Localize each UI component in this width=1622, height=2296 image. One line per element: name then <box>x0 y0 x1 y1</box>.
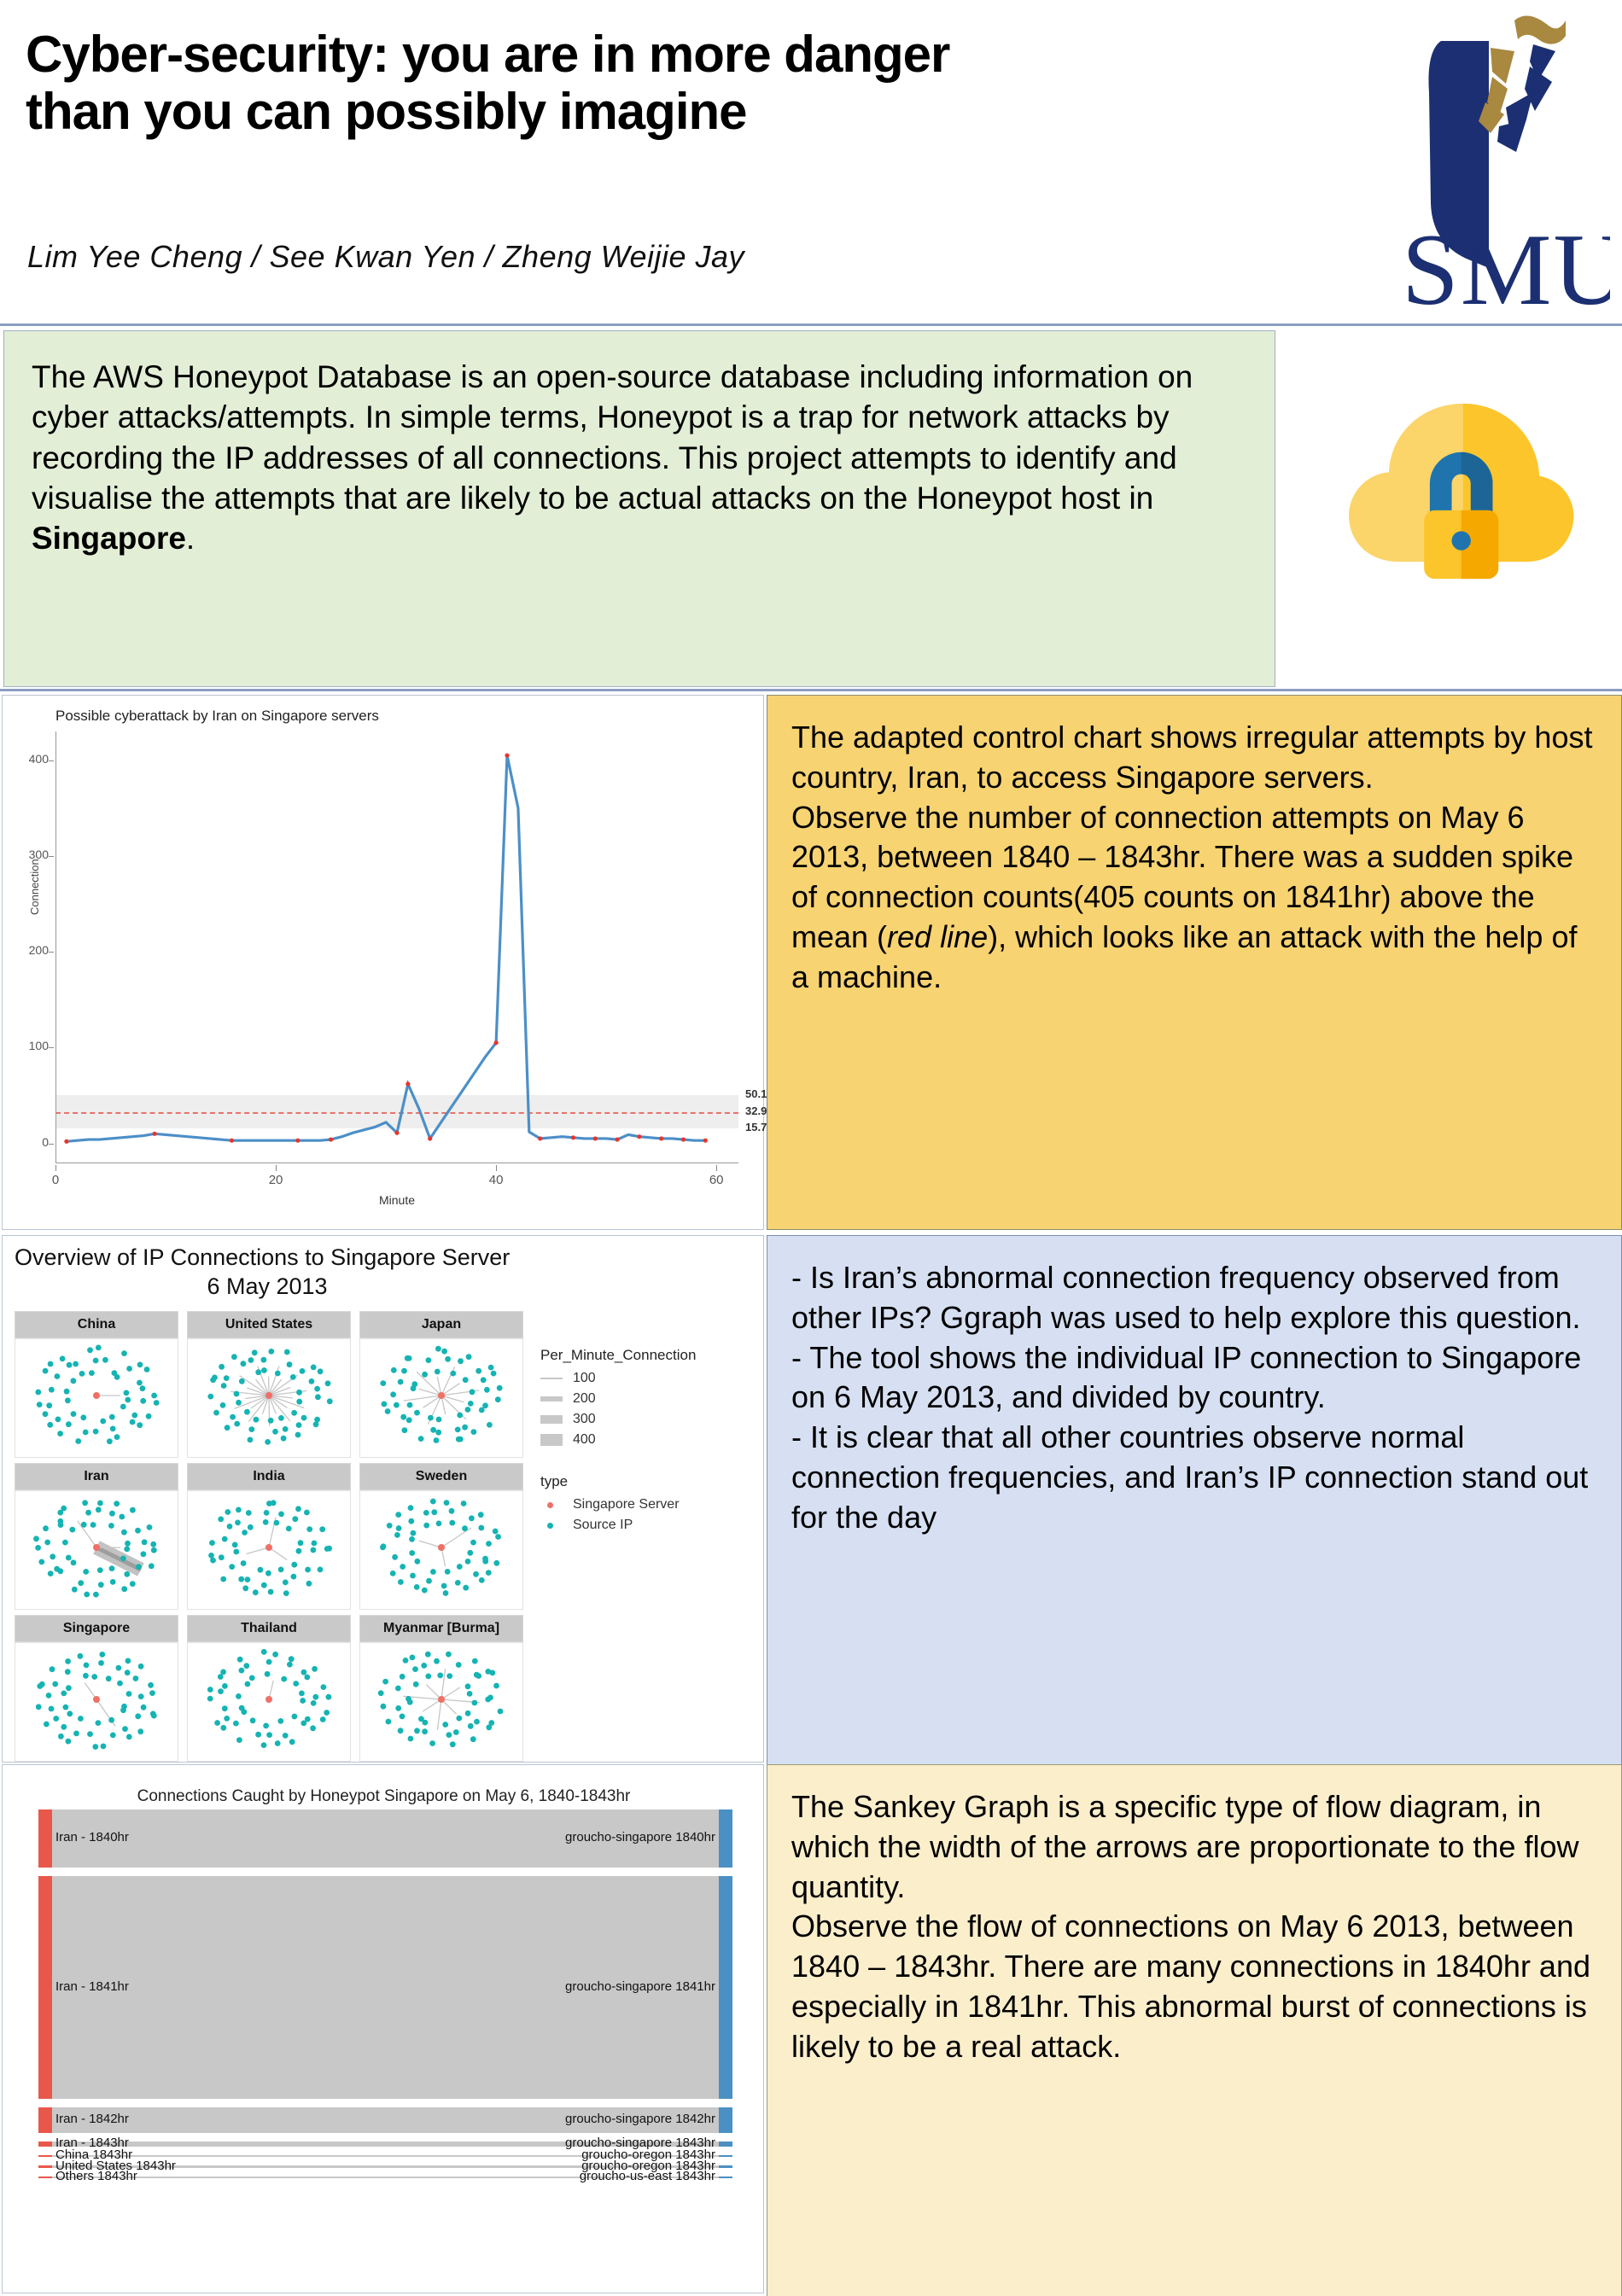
source-ip-node <box>305 1567 311 1573</box>
source-ip-node <box>422 1588 428 1594</box>
source-ip-node <box>414 1728 420 1734</box>
source-ip-node <box>110 1426 116 1432</box>
source-ip-node <box>208 1553 214 1559</box>
source-ip-node <box>117 1681 123 1687</box>
source-ip-node <box>275 1740 281 1746</box>
source-ip-node <box>219 1364 225 1370</box>
source-ip-node <box>47 1422 53 1428</box>
source-ip-node <box>238 1576 244 1582</box>
source-ip-node <box>151 1393 157 1399</box>
intro-text-part1: The AWS Honeypot Database is an open-sou… <box>32 359 1193 516</box>
source-ip-node <box>213 1410 219 1416</box>
source-ip-node <box>49 1706 55 1712</box>
sankey-panel: Connections Caught by Honeypot Singapore… <box>2 1764 764 2293</box>
chart-data-point <box>659 1136 663 1140</box>
poster-header: Cyber-security: you are in more danger t… <box>0 0 1622 326</box>
source-ip-node <box>258 1567 264 1573</box>
chart-data-point <box>637 1134 641 1139</box>
source-ip-node <box>222 1683 228 1689</box>
source-ip-node <box>431 1509 437 1515</box>
source-ip-node <box>43 1411 49 1417</box>
source-ip-node <box>93 1429 99 1435</box>
source-ip-node <box>446 1652 452 1658</box>
source-ip-node <box>265 1671 271 1677</box>
source-ip-node <box>387 1523 393 1529</box>
sankey-target-node[interactable] <box>719 2177 732 2179</box>
chart-x-tick: 20 <box>269 1173 283 1187</box>
source-ip-node <box>435 1430 441 1436</box>
source-ip-node <box>122 1726 128 1732</box>
source-ip-node <box>249 1675 255 1681</box>
source-ip-node <box>488 1365 494 1371</box>
source-ip-node <box>130 1507 136 1513</box>
title-line-1: Cyber-security: you are in more danger <box>26 26 1374 83</box>
source-ip-node <box>491 1371 497 1377</box>
chart-y-tick: 0 <box>42 1135 49 1149</box>
source-ip-node <box>239 1378 245 1384</box>
source-ip-node <box>324 1710 330 1716</box>
source-ip-node <box>434 1658 440 1664</box>
ggraph-facet-iran: Iran <box>15 1463 178 1610</box>
source-ip-node <box>149 1690 155 1696</box>
source-ip-node <box>278 1512 284 1518</box>
legend-size-entries: 100200300400 <box>540 1371 754 1448</box>
source-ip-node <box>428 1415 434 1421</box>
source-ip-node <box>301 1415 307 1421</box>
chart-line <box>67 755 705 1141</box>
ggraph-section: Overview of IP Connections to Singapore … <box>0 1235 1622 1764</box>
source-ip-node <box>486 1541 492 1547</box>
source-ip-node <box>456 1662 462 1668</box>
chart-y-tickmark <box>49 760 54 761</box>
poster-root: Cyber-security: you are in more danger t… <box>0 0 1622 2296</box>
source-ip-node <box>268 1418 274 1424</box>
ggraph-commentary-box: - Is Iran’s abnormal connection frequenc… <box>767 1235 1622 1770</box>
source-ip-node <box>421 1663 427 1669</box>
source-ip-node <box>402 1427 408 1433</box>
legend-size-label: 100 <box>573 1371 596 1386</box>
control-chart-commentary-box: The adapted control chart shows irregula… <box>767 695 1622 1230</box>
source-ip-node <box>300 1368 306 1374</box>
source-ip-node <box>93 1358 99 1364</box>
control-limit-label-upper: 50.1 <box>745 1087 767 1100</box>
facet-network-plot <box>187 1338 351 1458</box>
source-ip-node <box>414 1410 420 1416</box>
source-ip-node <box>296 1399 302 1405</box>
source-ip-node <box>108 1717 114 1723</box>
source-ip-node <box>461 1501 467 1506</box>
source-ip-node <box>72 1587 78 1593</box>
source-ip-node <box>467 1691 473 1697</box>
chart-y-tick: 300 <box>29 848 49 861</box>
source-ip-node <box>98 1660 104 1666</box>
source-ip-node <box>116 1665 122 1671</box>
source-ip-node <box>311 1365 317 1371</box>
source-ip-node <box>79 1371 85 1377</box>
source-ip-node <box>406 1417 412 1423</box>
source-ip-node <box>52 1681 58 1687</box>
sankey-target-node[interactable] <box>719 2142 732 2147</box>
source-ip-node <box>413 1681 419 1687</box>
sankey-commentary: The Sankey Graph is a specific type of f… <box>791 1787 1599 2067</box>
ggraph-legend: Per_Minute_Connection 100200300400 type … <box>540 1347 754 1538</box>
facet-label: Sweden <box>359 1463 523 1490</box>
chart-data-point <box>593 1136 598 1140</box>
source-ip-node <box>35 1545 41 1551</box>
control-limit-label-lower: 15.7 <box>745 1121 767 1133</box>
source-ip-node <box>409 1550 415 1556</box>
source-ip-node <box>261 1742 267 1748</box>
source-ip-node <box>445 1356 451 1362</box>
source-ip-node <box>465 1710 471 1716</box>
chart-data-point <box>394 1131 399 1135</box>
source-ip-node <box>71 1378 77 1384</box>
source-ip-node <box>138 1693 144 1699</box>
source-ip-node <box>271 1500 277 1506</box>
intro-paragraph: The AWS Honeypot Database is an open-sou… <box>32 357 1246 559</box>
source-ip-node <box>71 1559 77 1565</box>
singapore-server-node <box>438 1544 445 1551</box>
source-ip-node <box>398 1379 404 1385</box>
ggraph-title: Overview of IP Connections to Singapore … <box>15 1244 510 1271</box>
source-ip-node <box>463 1585 469 1591</box>
source-ip-node <box>137 1422 143 1428</box>
sankey-source-node[interactable] <box>38 1809 52 1868</box>
chart-series <box>55 731 738 1163</box>
source-ip-node <box>255 1369 261 1375</box>
source-ip-node <box>97 1501 103 1506</box>
source-ip-node <box>82 1500 88 1506</box>
source-ip-node <box>43 1368 49 1374</box>
legend-size-swatch <box>540 1378 563 1379</box>
source-ip-node <box>58 1734 64 1739</box>
ggraph-panel: Overview of IP Connections to Singapore … <box>2 1235 764 1763</box>
source-ip-node <box>498 1709 504 1715</box>
source-ip-node <box>263 1723 269 1729</box>
source-ip-node <box>140 1385 146 1391</box>
source-ip-node <box>325 1380 331 1386</box>
source-ip-node <box>264 1510 270 1516</box>
source-ip-node <box>214 1720 220 1726</box>
source-ip-node <box>430 1499 436 1505</box>
source-ip-node <box>65 1658 71 1664</box>
source-ip-node <box>321 1684 327 1690</box>
sankey-target-node[interactable] <box>719 2165 732 2168</box>
source-ip-node <box>274 1520 280 1526</box>
source-ip-node <box>450 1741 456 1747</box>
source-ip-node <box>239 1705 245 1711</box>
source-ip-node <box>296 1548 302 1554</box>
source-ip-node <box>73 1731 79 1737</box>
source-ip-node <box>268 1589 274 1595</box>
source-ip-node <box>227 1524 233 1530</box>
source-ip-node <box>495 1396 501 1402</box>
source-ip-node <box>296 1422 302 1428</box>
chart-y-tickmark <box>49 856 54 857</box>
source-ip-node <box>315 1394 321 1400</box>
source-ip-node <box>312 1694 318 1700</box>
chart-data-point <box>153 1132 157 1136</box>
source-ip-node <box>318 1567 324 1573</box>
source-ip-node <box>457 1413 463 1419</box>
source-ip-node <box>137 1380 143 1386</box>
source-ip-node <box>493 1529 499 1535</box>
source-ip-node <box>441 1349 447 1355</box>
source-ip-node <box>33 1536 39 1541</box>
sankey-source-node[interactable] <box>38 2177 52 2179</box>
facet-label: Thailand <box>187 1615 351 1642</box>
source-ip-node <box>385 1408 391 1414</box>
sankey-target-node[interactable] <box>719 2107 732 2133</box>
source-ip-node <box>48 1361 54 1367</box>
source-ip-node <box>414 1584 420 1590</box>
facet-network-plot <box>187 1642 351 1762</box>
source-ip-node <box>136 1564 142 1570</box>
source-ip-node <box>295 1432 301 1438</box>
source-ip-node <box>61 1691 67 1697</box>
source-ip-node <box>401 1368 407 1374</box>
ggraph-facet-india: India <box>187 1463 351 1610</box>
source-ip-node <box>35 1390 41 1396</box>
source-ip-node <box>493 1560 499 1566</box>
source-ip-node <box>301 1670 307 1675</box>
facet-label: United States <box>187 1311 351 1338</box>
source-ip-node <box>291 1574 297 1580</box>
sankey-target-node[interactable] <box>719 1809 732 1868</box>
source-ip-node <box>277 1718 283 1724</box>
ggraph-facet-japan: Japan <box>359 1311 523 1458</box>
source-ip-node <box>465 1683 471 1689</box>
source-ip-node <box>109 1414 115 1420</box>
facet-network-plot <box>359 1490 523 1610</box>
sankey-source-node[interactable] <box>38 2165 52 2168</box>
source-ip-node <box>466 1354 472 1360</box>
source-ip-node <box>124 1571 130 1577</box>
source-ip-node <box>97 1567 103 1573</box>
sankey-source-node[interactable] <box>38 2142 52 2147</box>
chart-x-tickmark <box>276 1165 277 1171</box>
source-ip-node <box>304 1510 310 1516</box>
source-ip-node <box>229 1564 235 1570</box>
source-ip-node <box>268 1349 274 1355</box>
cloud-lock-icon <box>1332 371 1579 619</box>
source-ip-node <box>250 1717 256 1723</box>
sankey-source-node[interactable] <box>38 2155 52 2158</box>
source-ip-node <box>300 1698 306 1704</box>
sankey-source-node[interactable] <box>38 1876 52 2100</box>
source-ip-node <box>381 1543 387 1549</box>
legend-type-label: Singapore Server <box>573 1497 680 1512</box>
source-ip-node <box>44 1722 50 1728</box>
source-ip-node <box>212 1375 218 1381</box>
source-ip-node <box>493 1683 499 1689</box>
source-ip-node <box>220 1725 226 1731</box>
source-ip-node <box>381 1704 387 1710</box>
source-ip-node <box>78 1580 84 1586</box>
facet-edge <box>441 1528 471 1547</box>
source-ip-node <box>235 1520 241 1526</box>
chart-x-tickmark <box>55 1165 56 1171</box>
source-ip-node <box>309 1378 315 1384</box>
source-ip-node <box>456 1716 462 1722</box>
chart-data-point <box>329 1137 333 1141</box>
source-ip-node <box>435 1346 441 1352</box>
source-ip-node <box>293 1681 299 1687</box>
source-ip-node <box>80 1414 86 1420</box>
source-ip-node <box>81 1522 87 1528</box>
ggraph-subtitle: 6 May 2013 <box>3 1273 532 1300</box>
chart-data-point <box>615 1137 619 1141</box>
source-ip-node <box>394 1532 400 1538</box>
source-ip-node <box>437 1673 443 1679</box>
sankey-source-label: Others 1843hr <box>55 2169 137 2183</box>
chart-y-tickmark <box>49 1047 54 1048</box>
source-ip-node <box>121 1350 127 1356</box>
source-ip-node <box>222 1705 228 1711</box>
source-ip-node <box>398 1728 404 1734</box>
source-ip-node <box>107 1438 113 1444</box>
source-ip-node <box>449 1508 455 1514</box>
source-ip-node <box>64 1389 70 1395</box>
source-ip-node <box>392 1554 398 1560</box>
source-ip-node <box>220 1576 226 1582</box>
source-ip-node <box>142 1539 148 1545</box>
source-ip-node <box>486 1724 492 1730</box>
source-ip-node <box>292 1516 298 1522</box>
intro-box: The AWS Honeypot Database is an open-sou… <box>3 330 1275 687</box>
facet-network-plot <box>15 1642 178 1762</box>
control-chart-section: Possible cyberattack by Iran on Singapor… <box>0 693 1622 1235</box>
source-ip-node <box>233 1721 239 1727</box>
sankey-diagram: Iran - 1840hrgroucho-singapore 1840hrIra… <box>3 1809 765 2236</box>
source-ip-node <box>121 1530 127 1536</box>
source-ip-node <box>109 1511 115 1517</box>
source-ip-node <box>83 1430 89 1436</box>
source-ip-node <box>291 1562 297 1568</box>
source-ip-node <box>71 1411 77 1417</box>
chart-y-tick: 400 <box>29 752 49 766</box>
singapore-server-node <box>93 1544 100 1551</box>
source-ip-node <box>119 1514 125 1520</box>
source-ip-node <box>130 1419 136 1425</box>
chart-y-tick: 100 <box>29 1039 49 1052</box>
source-ip-node <box>411 1381 417 1387</box>
source-ip-node <box>422 1728 428 1734</box>
source-ip-node <box>254 1417 260 1423</box>
source-ip-node <box>471 1429 477 1435</box>
ggraph-facet-china: China <box>15 1311 178 1458</box>
source-ip-node <box>96 1345 102 1351</box>
source-ip-node <box>391 1367 397 1373</box>
source-ip-node <box>283 1426 289 1432</box>
control-chart-commentary: The adapted control chart shows irregula… <box>791 718 1599 998</box>
source-ip-node <box>110 1579 116 1585</box>
source-ip-node <box>455 1580 461 1586</box>
source-ip-node <box>242 1585 248 1591</box>
source-ip-node <box>310 1725 316 1731</box>
source-ip-node <box>224 1375 230 1381</box>
source-ip-node <box>84 1663 90 1669</box>
legend-size-row: 400 <box>540 1432 754 1448</box>
source-ip-node <box>236 1737 242 1743</box>
source-ip-node <box>265 1570 271 1576</box>
source-ip-node <box>444 1500 450 1506</box>
sankey-source-label: Iran - 1840hr <box>55 1830 129 1844</box>
source-ip-node <box>474 1719 480 1725</box>
sankey-target-node[interactable] <box>719 1876 732 2100</box>
source-ip-node <box>67 1710 73 1716</box>
source-ip-node <box>281 1676 287 1682</box>
source-ip-node <box>50 1553 55 1559</box>
source-ip-node <box>382 1401 388 1407</box>
source-ip-node <box>295 1506 301 1512</box>
source-ip-node <box>236 1507 242 1513</box>
legend-type-label: Source IP <box>573 1518 633 1533</box>
source-ip-node <box>472 1658 478 1664</box>
facet-label: India <box>187 1463 351 1490</box>
source-ip-node <box>237 1657 243 1663</box>
source-ip-node <box>149 1563 155 1569</box>
source-ip-node <box>395 1686 401 1692</box>
sankey-source-node[interactable] <box>38 2107 52 2133</box>
source-ip-node <box>426 1578 432 1584</box>
source-ip-node <box>221 1383 227 1389</box>
source-ip-node <box>462 1425 468 1431</box>
facet-network-plot <box>15 1338 178 1458</box>
source-ip-node <box>39 1681 45 1687</box>
source-ip-node <box>400 1674 405 1680</box>
source-ip-node <box>436 1521 442 1527</box>
chart-data-point <box>295 1139 300 1143</box>
source-ip-node <box>470 1389 476 1395</box>
source-ip-node <box>84 1592 90 1598</box>
source-ip-node <box>263 1519 269 1525</box>
source-ip-node <box>450 1371 456 1377</box>
title-line-2: than you can possibly imagine <box>26 83 1374 140</box>
source-ip-node <box>55 1373 61 1379</box>
source-ip-node <box>252 1349 258 1355</box>
source-ip-node <box>243 1663 249 1669</box>
facet-label: Singapore <box>15 1615 178 1642</box>
source-ip-node <box>425 1652 431 1658</box>
source-ip-node <box>83 1673 89 1679</box>
source-ip-node <box>283 1733 289 1739</box>
ggraph-facet-myanmar-burma: Myanmar [Burma] <box>359 1615 523 1762</box>
source-ip-node <box>62 1540 68 1546</box>
source-ip-node <box>380 1380 386 1386</box>
source-ip-node <box>125 1397 131 1403</box>
source-ip-node <box>78 1653 84 1659</box>
source-ip-node <box>327 1398 333 1404</box>
chart-data-point <box>703 1139 708 1143</box>
chart-y-tickmark <box>49 952 54 953</box>
sankey-target-node[interactable] <box>719 2155 732 2158</box>
sankey-commentary-box: The Sankey Graph is a specific type of f… <box>767 1764 1622 2296</box>
control-chart-panel: Possible cyberattack by Iran on Singapor… <box>2 695 764 1230</box>
facet-edge <box>419 1541 441 1547</box>
sankey-target-label: groucho-us-east 1843hr <box>580 2169 715 2183</box>
source-ip-node <box>65 1669 71 1675</box>
source-ip-node <box>120 1556 126 1562</box>
sankey-source-label: Iran - 1842hr <box>55 2112 129 2126</box>
source-ip-node <box>467 1550 473 1556</box>
source-ip-node <box>281 1436 287 1442</box>
source-ip-node <box>423 1523 429 1529</box>
source-ip-node <box>141 1551 147 1557</box>
legend-size-label: 400 <box>573 1432 596 1448</box>
source-ip-node <box>57 1518 63 1524</box>
intro-section: The AWS Honeypot Database is an open-sou… <box>0 329 1622 691</box>
